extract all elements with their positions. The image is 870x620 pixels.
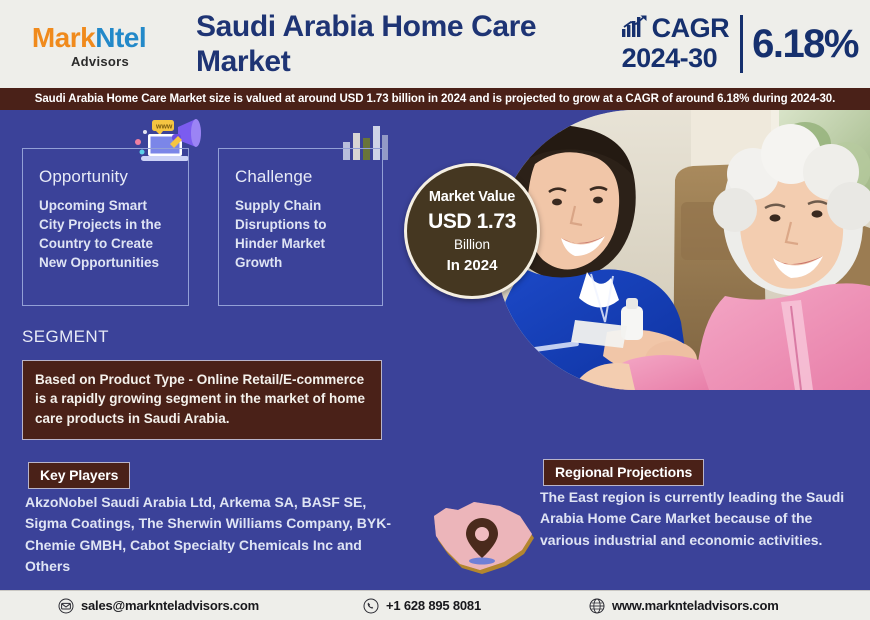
key-players-text: AkzoNobel Saudi Arabia Ltd, Arkema SA, B…: [25, 492, 395, 577]
market-value-unit: Billion: [454, 237, 490, 252]
card-challenge-title: Challenge: [235, 167, 366, 187]
footer-website-text: www.marknteladvisors.com: [612, 598, 779, 613]
logo-text-ntel: Ntel: [95, 22, 146, 53]
regional-projections-tag: Regional Projections: [543, 459, 704, 486]
footer-email-text: sales@marknteladvisors.com: [81, 598, 259, 613]
cagr-label-text: CAGR: [652, 15, 730, 42]
envelope-icon: [58, 598, 74, 614]
market-value-label: Market Value: [429, 189, 515, 205]
header-bar: MarkNtel Advisors Saudi Arabia Home Care…: [0, 0, 870, 88]
bar-chart-growth-icon: [622, 15, 648, 42]
card-challenge: Challenge Supply Chain Disruptions to Hi…: [218, 148, 383, 306]
infographic-page: MarkNtel Advisors Saudi Arabia Home Care…: [0, 0, 870, 620]
market-value-year: In 2024: [447, 257, 498, 274]
card-opportunity-title: Opportunity: [39, 167, 172, 187]
card-opportunity: Opportunity Upcoming Smart City Projects…: [22, 148, 189, 306]
phone-icon: [363, 598, 379, 614]
cagr-block: CAGR 2024-30 6.18%: [622, 0, 870, 88]
nurse-with-elderly-woman-photo: [495, 110, 870, 390]
market-value-amount: USD 1.73: [428, 210, 516, 234]
page-title: Saudi Arabia Home Care Market: [178, 9, 622, 79]
saudi-arabia-map-pin-icon: [424, 496, 540, 578]
card-opportunity-body: Upcoming Smart City Projects in the Coun…: [39, 196, 172, 273]
logo-wordmark: MarkNtel: [32, 24, 146, 52]
cagr-label-row: CAGR: [622, 15, 730, 42]
market-value-badge: Market Value USD 1.73 Billion In 2024: [404, 163, 540, 299]
summary-banner: Saudi Arabia Home Care Market size is va…: [0, 88, 870, 110]
svg-text:www: www: [155, 124, 173, 131]
footer-phone-text: +1 628 895 8081: [386, 598, 481, 613]
card-challenge-body: Supply Chain Disruptions to Hinder Marke…: [235, 196, 366, 273]
globe-icon: [589, 598, 605, 614]
segment-heading: SEGMENT: [22, 327, 109, 347]
footer-email[interactable]: sales@marknteladvisors.com: [58, 598, 259, 614]
cagr-label-group: CAGR 2024-30: [622, 15, 741, 72]
footer-phone[interactable]: +1 628 895 8081: [363, 598, 481, 614]
footer-website[interactable]: www.marknteladvisors.com: [589, 598, 779, 614]
logo-subtitle: Advisors: [71, 54, 129, 69]
regional-projections-text: The East region is currently leading the…: [540, 487, 865, 551]
cagr-value: 6.18%: [743, 24, 858, 64]
segment-text: Based on Product Type - Online Retail/E-…: [35, 370, 369, 428]
footer-bar: sales@marknteladvisors.com +1 628 895 80…: [0, 590, 870, 620]
segment-box: Based on Product Type - Online Retail/E-…: [22, 360, 382, 440]
cagr-period: 2024-30: [622, 44, 718, 72]
key-players-tag: Key Players: [28, 462, 130, 489]
logo-text-mark: Mark: [32, 22, 95, 53]
brand-logo[interactable]: MarkNtel Advisors: [0, 0, 178, 88]
